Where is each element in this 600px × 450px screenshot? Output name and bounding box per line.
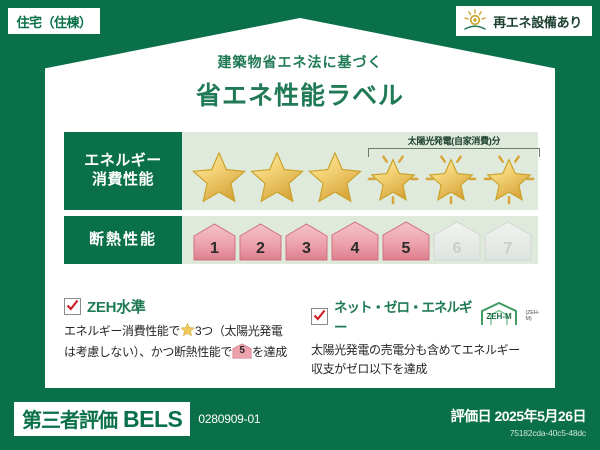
bels-plate: 第三者評価 BELS bbox=[14, 402, 190, 436]
zeh-body-line2-post: を達成 bbox=[252, 345, 287, 359]
star-solar bbox=[422, 148, 480, 206]
evaluation-info: 評価日 2025年5月26日 75182cda-40c5-48dc bbox=[451, 406, 586, 438]
grade-house-6: 6 bbox=[432, 220, 482, 262]
star-rating bbox=[190, 146, 534, 208]
insulation-row: 断熱性能 bbox=[64, 216, 538, 264]
bels-footer: 第三者評価 BELS 0280909-01 bbox=[14, 402, 260, 436]
grade-number: 2 bbox=[238, 240, 283, 258]
criterion-zeh-head: ZEH水準 bbox=[64, 296, 297, 317]
criteria-section: ZEH水準 エネルギー消費性能で3つ（太陽光発電 は考慮しない）、かつ断熱性能で… bbox=[64, 296, 544, 378]
inline-star-icon bbox=[180, 322, 195, 343]
evaluation-id: 75182cda-40c5-48dc bbox=[451, 428, 586, 438]
grade-house-3: 3 bbox=[284, 222, 329, 262]
criterion-zeh-body: エネルギー消費性能で3つ（太陽光発電 は考慮しない）、かつ断熱性能で5を達成 bbox=[64, 322, 297, 361]
star-solar bbox=[480, 148, 538, 206]
zeh-m-logo-caption: (ZEH-M) bbox=[525, 310, 544, 322]
bels-en-label: BELS bbox=[123, 406, 182, 433]
energy-performance-label: 住宅（住棟） 再エネ設備あり 建築物省エネ法に基づく 省エネ性能ラベル bbox=[0, 0, 600, 450]
grade-number: 3 bbox=[284, 240, 329, 258]
criterion-net-zero-head: ネット・ゼロ・エネルギー ZEH-M (ZEH-M) bbox=[311, 296, 544, 336]
grade-number: 5 bbox=[381, 240, 431, 258]
sun-icon bbox=[462, 9, 488, 33]
criterion-net-zero-body: 太陽光発電の売電分も含めてエネルギー 収支がゼロ以下を達成 bbox=[311, 341, 544, 378]
inline-grade-house-icon: 5 bbox=[232, 343, 252, 359]
grade-number: 1 bbox=[192, 240, 237, 258]
zeh-m-logo-icon: ZEH-M bbox=[479, 301, 519, 332]
energy-consumption-row: エネルギー 消費性能 太陽光発電(自家消費)分 bbox=[64, 132, 538, 210]
zeh-checkbox[interactable] bbox=[64, 298, 81, 315]
bels-jp-label: 第三者評価 bbox=[22, 404, 117, 433]
energy-label-line2: 消費性能 bbox=[92, 171, 154, 190]
renewable-equipment-badge: 再エネ設備あり bbox=[456, 6, 592, 36]
grade-house-4: 4 bbox=[330, 220, 380, 262]
star-filled bbox=[190, 148, 248, 206]
grade-house-5: 5 bbox=[381, 220, 431, 262]
net-zero-body-line1: 太陽光発電の売電分も含めてエネルギー bbox=[311, 343, 520, 357]
star-filled bbox=[306, 148, 364, 206]
criterion-zeh: ZEH水準 エネルギー消費性能で3つ（太陽光発電 は考慮しない）、かつ断熱性能で… bbox=[64, 296, 297, 378]
insulation-label: 断熱性能 bbox=[64, 216, 182, 264]
evaluation-date: 評価日 2025年5月26日 bbox=[451, 406, 586, 426]
category-tag: 住宅（住棟） bbox=[8, 8, 100, 34]
grade-house-1: 1 bbox=[192, 222, 237, 262]
inline-grade-number: 5 bbox=[232, 343, 252, 359]
grade-number: 6 bbox=[432, 240, 482, 258]
energy-rating-area: 太陽光発電(自家消費)分 bbox=[182, 132, 538, 210]
criterion-zeh-title: ZEH水準 bbox=[87, 296, 146, 317]
renewable-badge-label: 再エネ設備あり bbox=[493, 12, 582, 31]
star-filled bbox=[248, 148, 306, 206]
page-title: 建築物省エネ法に基づく 省エネ性能ラベル bbox=[45, 52, 555, 112]
svg-text:ZEH-M: ZEH-M bbox=[487, 312, 513, 321]
criterion-net-zero-title: ネット・ゼロ・エネルギー bbox=[334, 296, 475, 336]
performance-rows: エネルギー 消費性能 太陽光発電(自家消費)分 bbox=[64, 132, 538, 270]
title-main: 省エネ性能ラベル bbox=[45, 76, 555, 112]
title-subtitle: 建築物省エネ法に基づく bbox=[45, 52, 555, 72]
criterion-net-zero: ネット・ゼロ・エネルギー ZEH-M (ZEH-M) 太陽光発電の売電分も含めて… bbox=[297, 296, 544, 378]
net-zero-checkbox[interactable] bbox=[311, 308, 328, 325]
energy-consumption-label: エネルギー 消費性能 bbox=[64, 132, 182, 210]
grade-number: 7 bbox=[483, 240, 533, 258]
grade-house-7: 7 bbox=[483, 220, 533, 262]
bels-number: 0280909-01 bbox=[198, 412, 260, 426]
insulation-rating-area: 1 2 3 bbox=[182, 216, 538, 264]
net-zero-body-line2: 収支がゼロ以下を達成 bbox=[311, 362, 427, 376]
grade-house-2: 2 bbox=[238, 222, 283, 262]
zeh-body-mid: 3つ（太陽光発電 bbox=[195, 324, 282, 338]
insulation-grade-scale: 1 2 3 bbox=[192, 220, 533, 262]
zeh-body-pre: エネルギー消費性能で bbox=[64, 324, 180, 338]
insulation-label-text: 断熱性能 bbox=[89, 231, 157, 250]
star-solar bbox=[364, 148, 422, 206]
grade-number: 4 bbox=[330, 240, 380, 258]
zeh-body-line2-pre: は考慮しない）、かつ断熱性能で bbox=[64, 345, 232, 359]
energy-label-line1: エネルギー bbox=[84, 152, 162, 171]
